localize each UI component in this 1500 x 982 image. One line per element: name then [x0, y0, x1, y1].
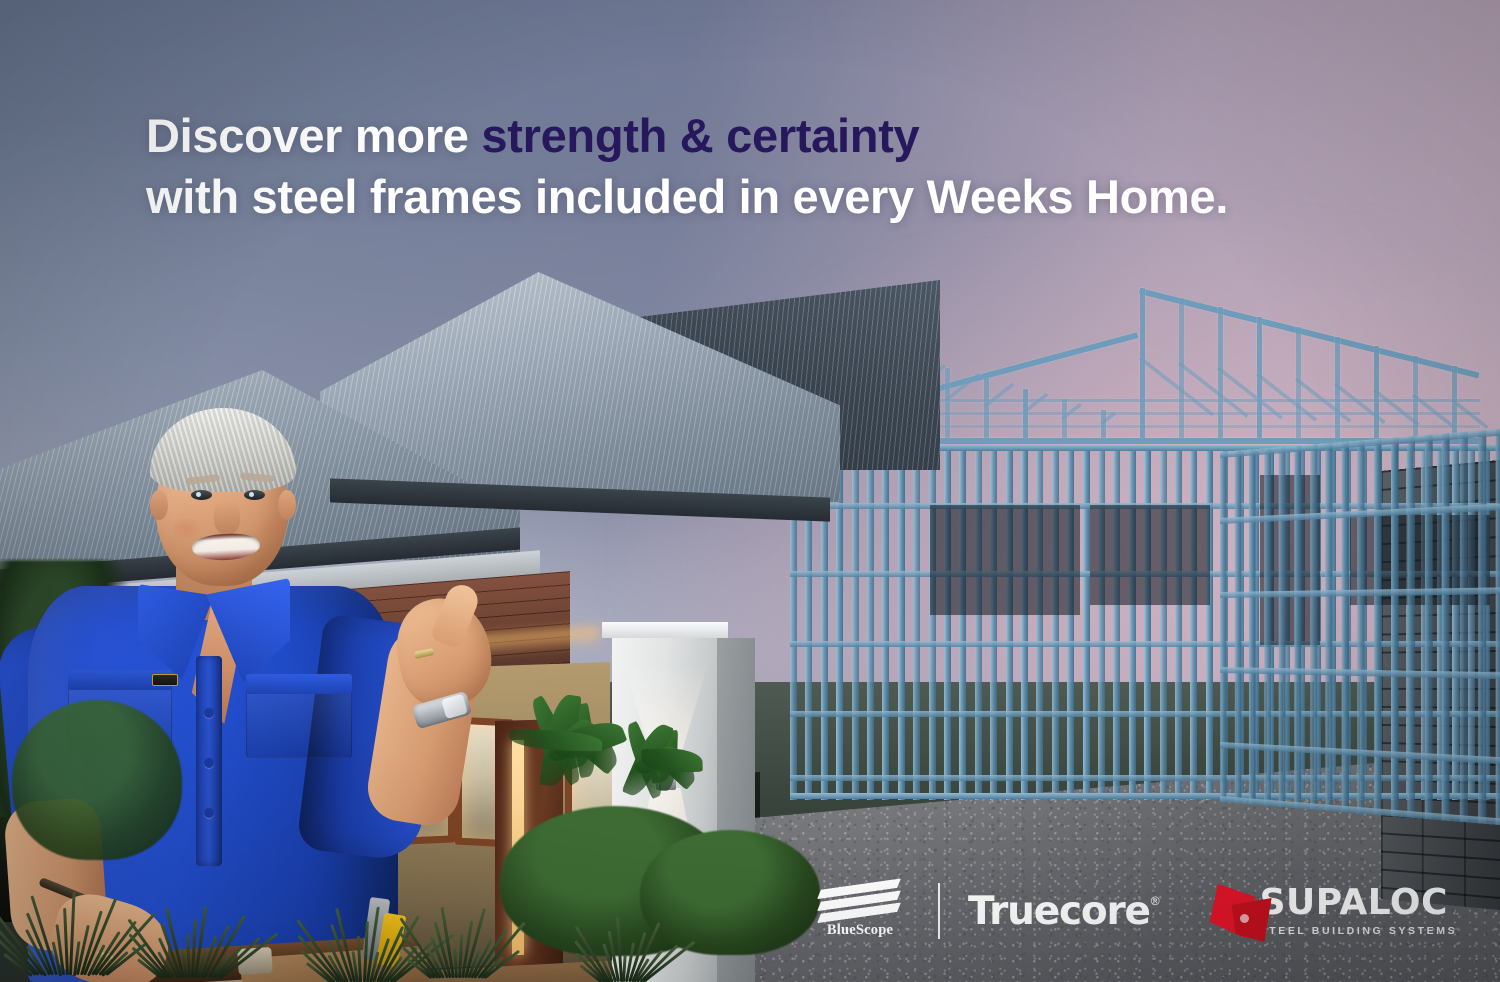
ear-left	[150, 490, 168, 520]
logo-divider	[938, 883, 940, 939]
ear-right	[278, 490, 296, 520]
nose	[214, 500, 240, 534]
supaloc-tagline: STEEL BUILDING SYSTEMS	[1260, 925, 1458, 937]
shirt-button	[204, 808, 214, 818]
porch-column-side	[717, 638, 755, 982]
cheek-right	[258, 516, 290, 540]
shirt-brand-tag	[152, 674, 178, 686]
headline: Discover more strength & certainty with …	[146, 105, 1346, 227]
headline-accent-text: strength & certainty	[481, 109, 919, 162]
headline-line-2: with steel frames included in every Week…	[146, 166, 1346, 227]
advertisement-banner: Discover more strength & certainty with …	[0, 0, 1500, 982]
door-sidelight	[512, 740, 524, 955]
bluescope-waves-icon	[818, 884, 902, 918]
hair	[150, 408, 296, 492]
supaloc-shard-icon	[1206, 882, 1272, 940]
supaloc-logo[interactable]: SUPALOC STEEL BUILDING SYSTEMS	[1206, 882, 1458, 940]
truecore-logo[interactable]: Truecore ®	[968, 892, 1160, 931]
presenter-figure	[10, 408, 510, 982]
porch-column	[612, 630, 717, 982]
shirt-pocket-flap-right	[246, 674, 352, 694]
frame-wall-side	[1220, 427, 1500, 827]
headline-line-1: Discover more strength & certainty	[146, 105, 1346, 166]
eye-left	[191, 490, 212, 500]
headline-plain-text: Discover more	[146, 109, 481, 162]
wall-light-fixture	[656, 760, 676, 790]
shirt-button	[204, 758, 214, 768]
eye-glint	[196, 492, 201, 497]
eye-right	[244, 490, 265, 500]
shirt-button	[204, 708, 214, 718]
partner-logo-bar: BlueScope Truecore ® SUPALOC STEEL BUILD…	[810, 877, 1457, 945]
registered-trademark-icon: ®	[1151, 894, 1160, 908]
cheek-left	[170, 516, 202, 540]
bluescope-wordmark: BlueScope	[827, 922, 893, 939]
truecore-wordmark: Truecore	[968, 892, 1150, 931]
eye-glint	[249, 492, 254, 497]
bluescope-logo[interactable]: BlueScope	[810, 884, 910, 939]
supaloc-wordmark: SUPALOC	[1260, 885, 1448, 921]
porch-column-cap	[602, 622, 728, 638]
belt-buckle	[237, 947, 273, 975]
